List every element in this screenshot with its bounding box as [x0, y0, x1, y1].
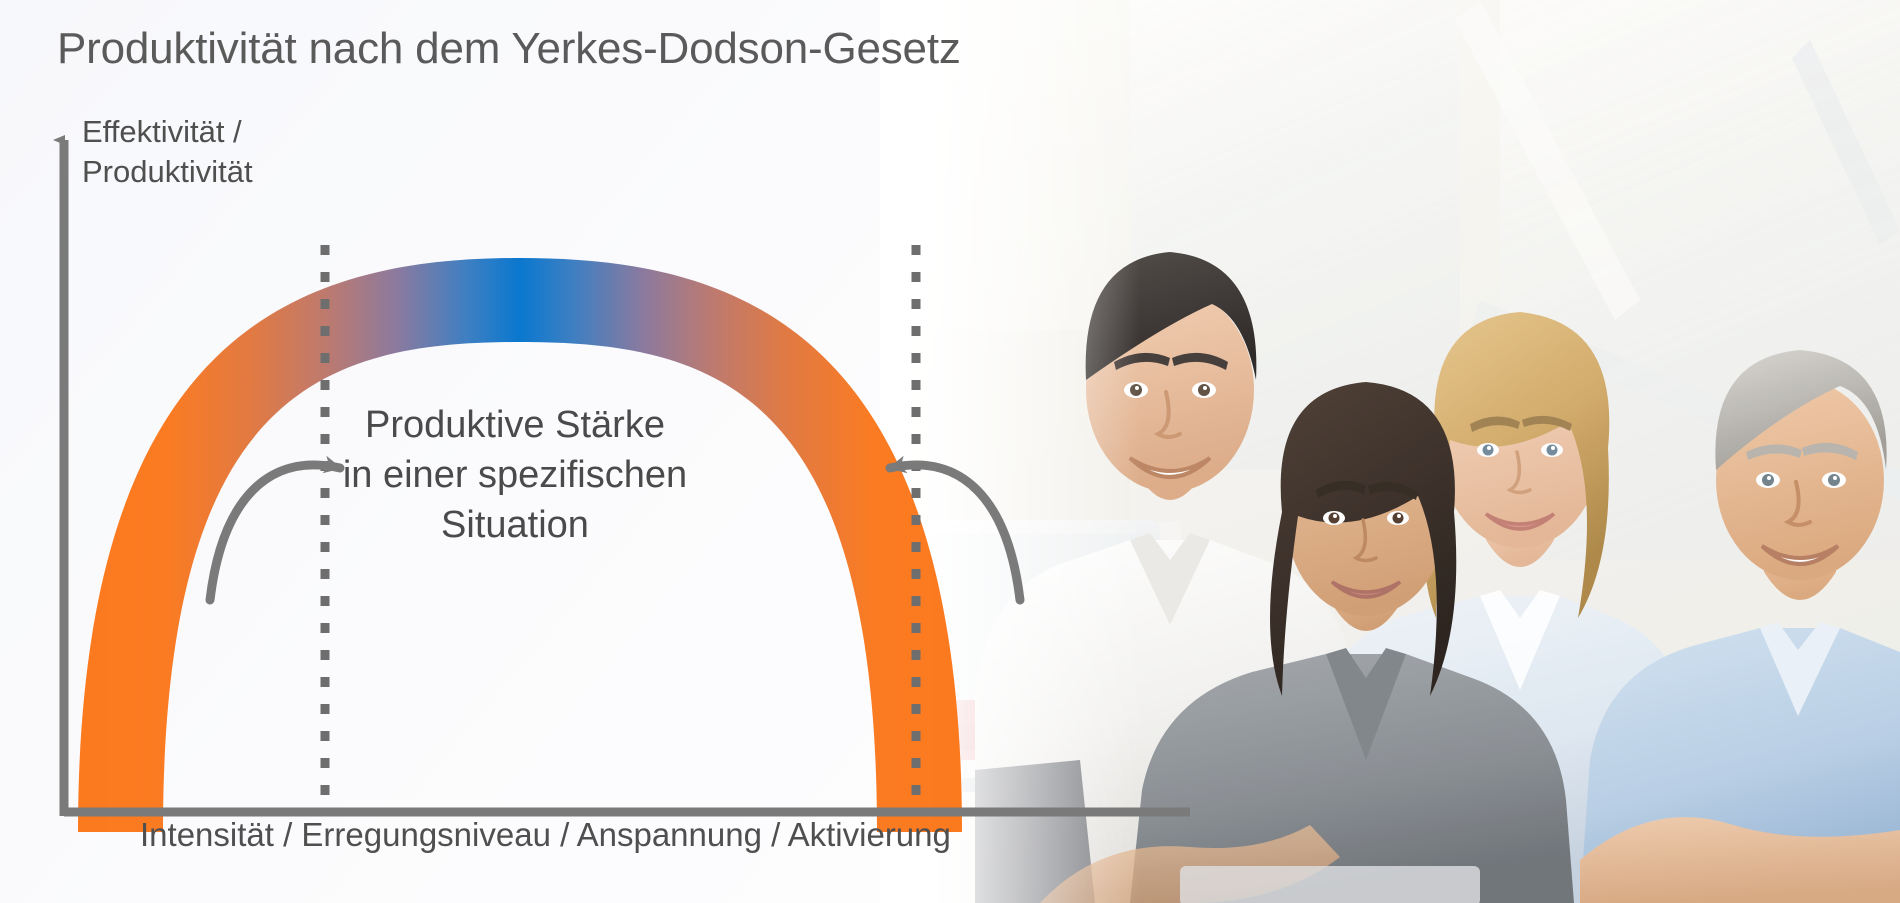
y-axis-label: Effektivität / Produktivität — [82, 112, 253, 192]
y-axis-label-line1: Effektivität / — [82, 112, 253, 152]
optimal-zone-caption: Produktive Stärke in einer spezifischen … — [280, 400, 750, 550]
x-axis-label: Intensität / Erregungsniveau / Anspannun… — [140, 816, 951, 854]
caption-line-2: in einer spezifischen — [280, 450, 750, 500]
caption-line-3: Situation — [280, 500, 750, 550]
page-title: Produktivität nach dem Yerkes-Dodson-Ges… — [57, 24, 961, 74]
y-axis-label-line2: Produktivität — [82, 152, 253, 192]
slide-canvas: Produktivität nach dem Yerkes-Dodson-Ges… — [0, 0, 1900, 903]
caption-line-1: Produktive Stärke — [280, 400, 750, 450]
